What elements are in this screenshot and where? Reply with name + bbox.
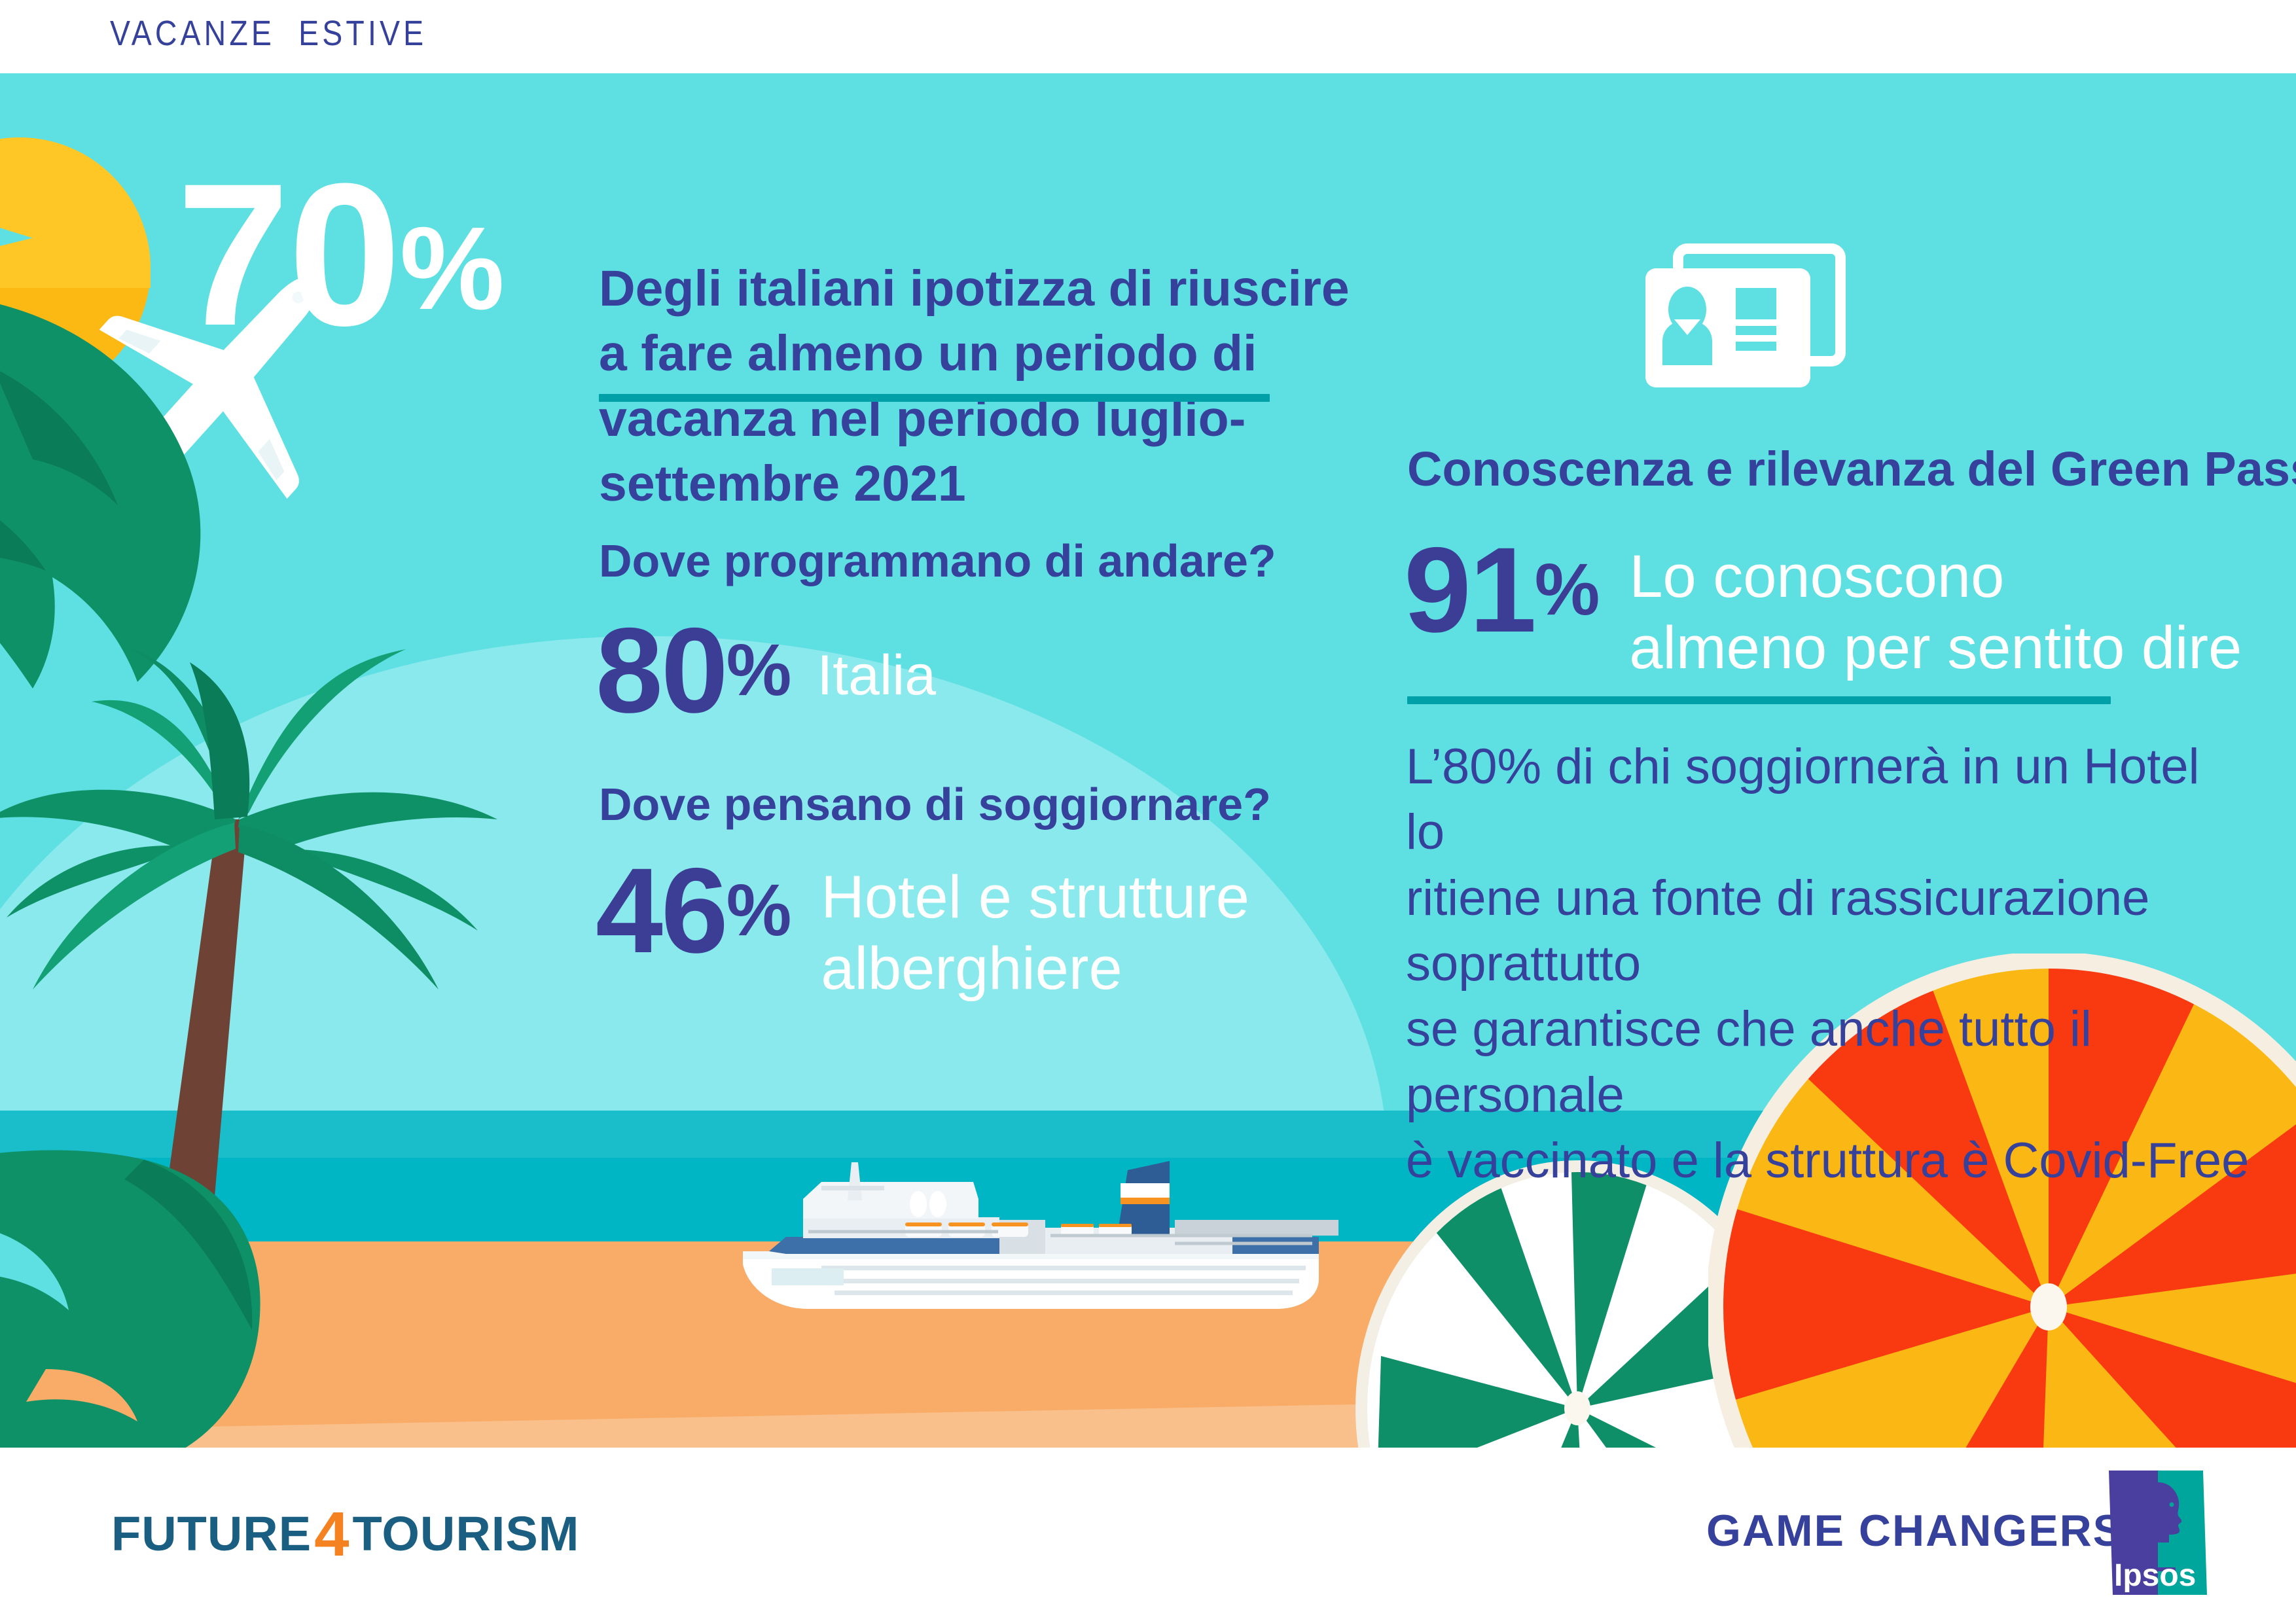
stat-hotel-number: 46% bbox=[596, 855, 789, 967]
divider-left bbox=[599, 394, 1270, 402]
id-card-icon bbox=[1636, 242, 1852, 406]
logo-text-future: FUTURE bbox=[111, 1507, 312, 1561]
stat-greenpass-label: Lo conoscono almeno per sentito dire bbox=[1629, 541, 2242, 683]
green-pass-paragraph: L’80% di chi soggiornerà in un Hotel lo … bbox=[1406, 734, 2250, 1194]
header-bar: VACANZE ESTIVE bbox=[0, 0, 2296, 73]
infographic-page: VACANZE ESTIVE 70% Degli italiani ipotiz… bbox=[0, 0, 2296, 1623]
question-label-destination: Dove programmano di andare? bbox=[599, 535, 1276, 587]
headline-text: Degli italiani ipotizza di riuscire a fa… bbox=[599, 257, 1371, 516]
stat-row-italia: 80% Italia bbox=[596, 615, 936, 726]
headline-stat: 70% bbox=[177, 171, 505, 338]
stat-row-hotel: 46% Hotel e strutture alberghiere bbox=[596, 855, 1249, 1004]
stat-italia-label: Italia bbox=[817, 644, 936, 707]
stat-hotel-value: 46 bbox=[596, 844, 726, 978]
divider-right bbox=[1407, 696, 2111, 704]
ipsos-logo: Ipsos bbox=[2109, 1471, 2207, 1595]
headline-stat-unit: % bbox=[400, 203, 505, 334]
stat-italia-number: 80% bbox=[596, 615, 789, 726]
content-layer: 70% Degli italiani ipotizza di riuscire … bbox=[0, 73, 2296, 1448]
future4tourism-logo: FUTURE4TOURISM bbox=[111, 1499, 579, 1571]
stat-greenpass-value: 91 bbox=[1404, 523, 1535, 658]
stat-italia-unit: % bbox=[726, 629, 790, 711]
game-changers-tagline: GAME CHANGERS bbox=[1706, 1505, 2124, 1556]
stat-italia-value: 80 bbox=[596, 603, 726, 738]
stat-greenpass-unit: % bbox=[1535, 548, 1598, 630]
page-title: VACANZE ESTIVE bbox=[110, 13, 427, 54]
ipsos-logo-text: Ipsos bbox=[2114, 1558, 2196, 1593]
logo-text-four: 4 bbox=[314, 1499, 350, 1569]
stat-greenpass-number: 91% bbox=[1404, 535, 1598, 646]
stat-row-green-pass: 91% Lo conoscono almeno per sentito dire bbox=[1404, 535, 2242, 683]
stat-hotel-unit: % bbox=[726, 869, 790, 951]
green-pass-title: Conoscenza e rilevanza del Green Pass bbox=[1407, 441, 2296, 497]
stat-hotel-label: Hotel e strutture alberghiere bbox=[821, 862, 1249, 1004]
question-label-accommodation: Dove pensano di soggiornare? bbox=[599, 778, 1271, 830]
headline-stat-value: 70 bbox=[177, 141, 400, 368]
logo-text-tourism: TOURISM bbox=[352, 1507, 579, 1561]
